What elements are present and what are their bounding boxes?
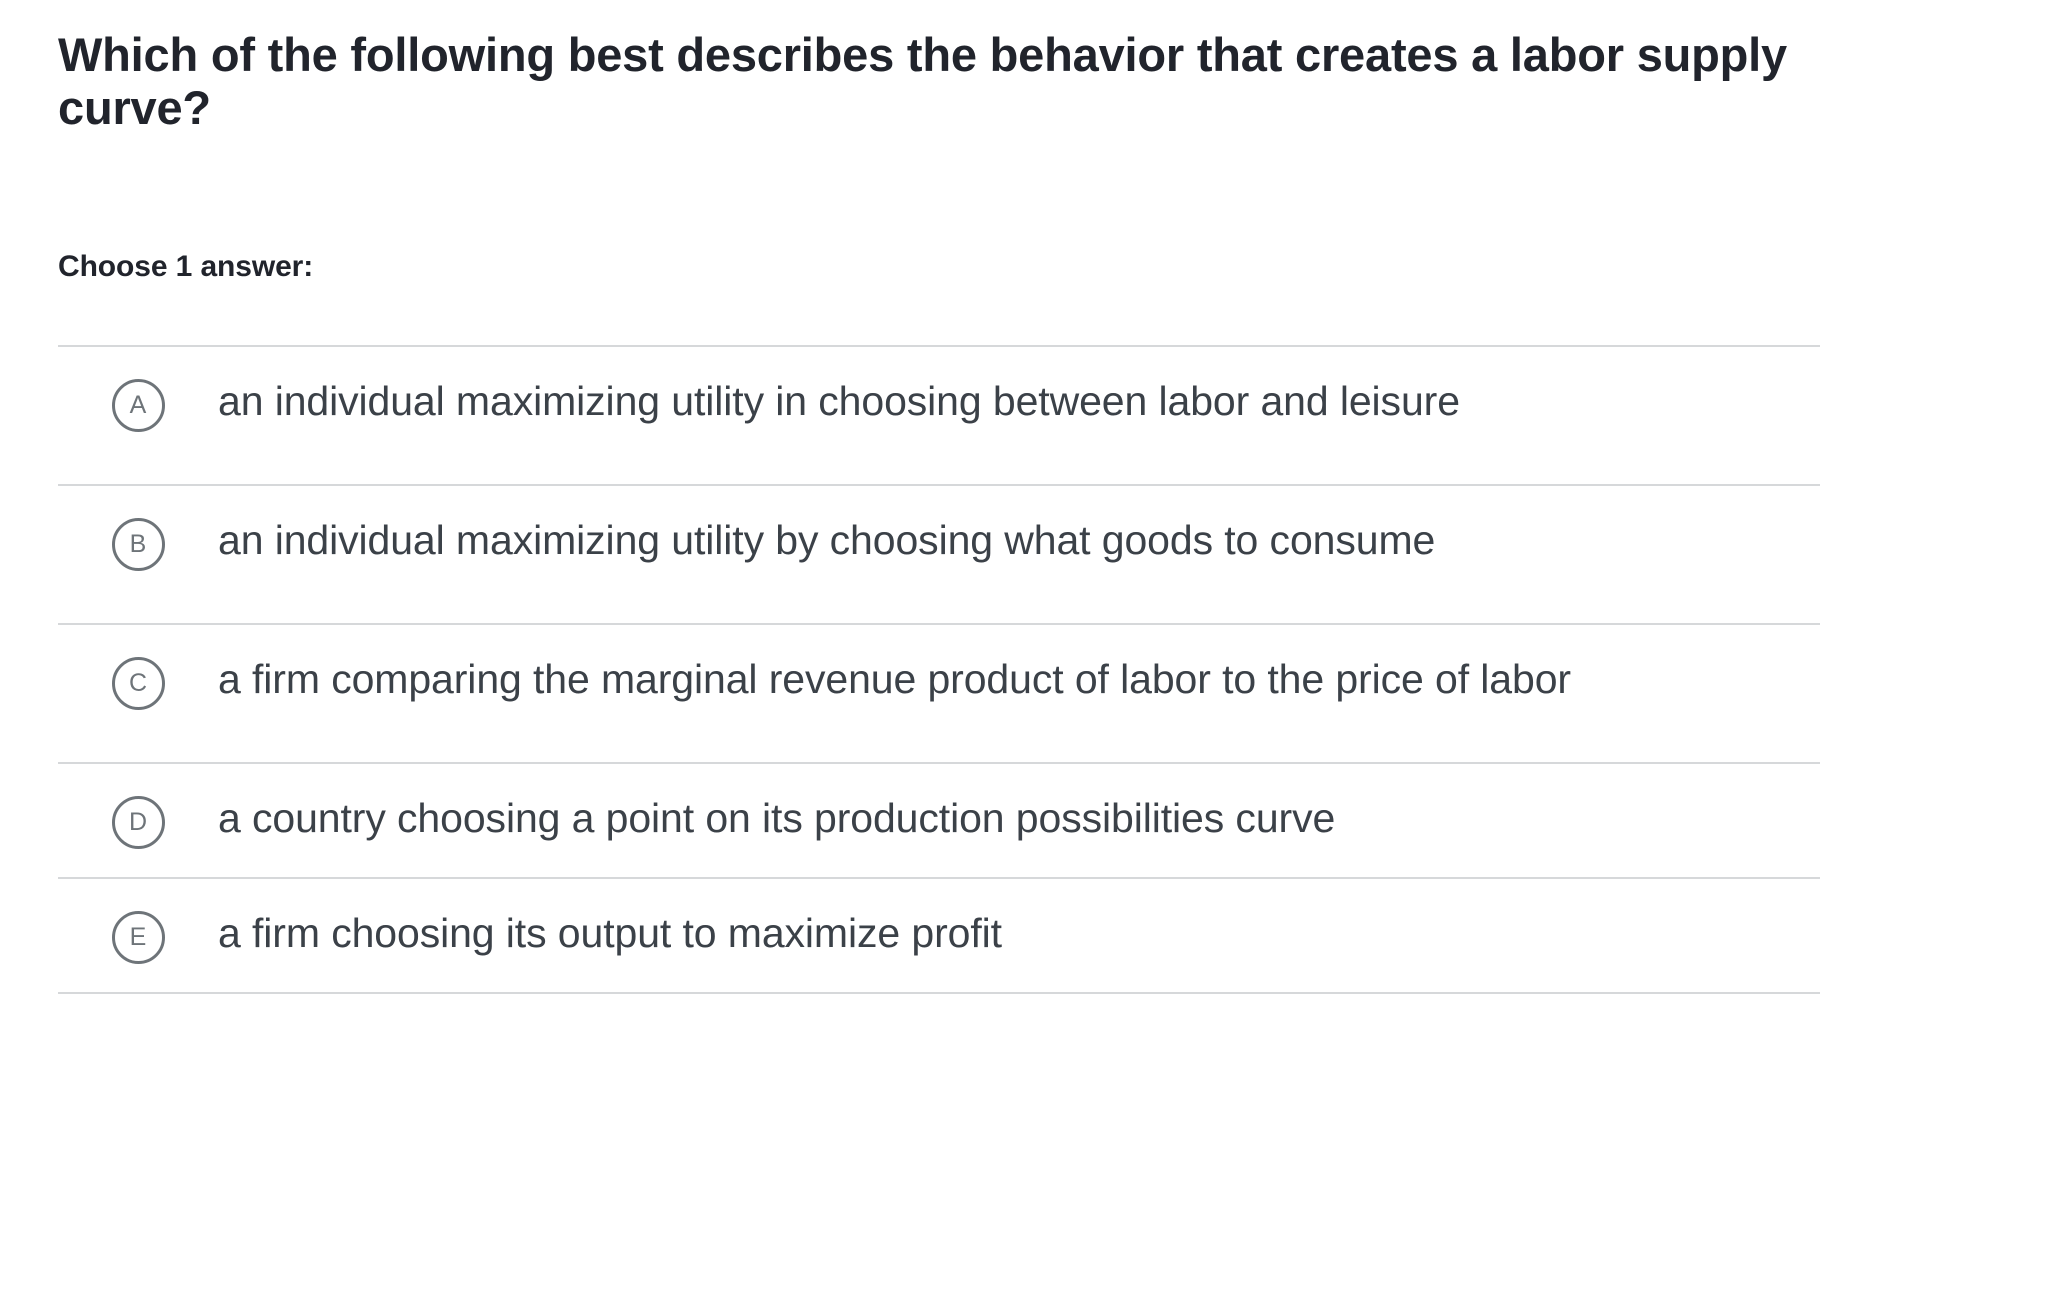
answer-option-c[interactable]: C a firm comparing the marginal revenue … bbox=[58, 625, 1820, 762]
option-letter-badge-e[interactable]: E bbox=[112, 911, 165, 964]
option-text-c: a firm comparing the marginal revenue pr… bbox=[218, 653, 1820, 705]
option-text-b: an individual maximizing utility by choo… bbox=[218, 514, 1820, 566]
option-text-e: a firm choosing its output to maximize p… bbox=[218, 907, 1820, 959]
option-badge-cell-a: A bbox=[58, 375, 218, 432]
option-text-a: an individual maximizing utility in choo… bbox=[218, 375, 1820, 427]
answer-option-e[interactable]: E a firm choosing its output to maximize… bbox=[58, 879, 1820, 992]
option-letter-badge-c[interactable]: C bbox=[112, 657, 165, 710]
option-text-d: a country choosing a point on its produc… bbox=[218, 792, 1820, 844]
option-divider-bottom bbox=[58, 992, 1820, 994]
question-page: Which of the following best describes th… bbox=[0, 0, 2048, 1312]
option-badge-cell-c: C bbox=[58, 653, 218, 710]
answer-option-d[interactable]: D a country choosing a point on its prod… bbox=[58, 764, 1820, 877]
option-badge-cell-b: B bbox=[58, 514, 218, 571]
answer-option-a[interactable]: A an individual maximizing utility in ch… bbox=[58, 347, 1820, 484]
answer-option-b[interactable]: B an individual maximizing utility by ch… bbox=[58, 486, 1820, 623]
choose-answer-instruction: Choose 1 answer: bbox=[58, 250, 313, 284]
option-letter-badge-d[interactable]: D bbox=[112, 796, 165, 849]
option-letter-badge-a[interactable]: A bbox=[112, 379, 165, 432]
option-badge-cell-d: D bbox=[58, 792, 218, 849]
answer-options-list: A an individual maximizing utility in ch… bbox=[58, 345, 1820, 994]
option-badge-cell-e: E bbox=[58, 907, 218, 964]
option-letter-badge-b[interactable]: B bbox=[112, 518, 165, 571]
question-stem: Which of the following best describes th… bbox=[58, 28, 1848, 134]
